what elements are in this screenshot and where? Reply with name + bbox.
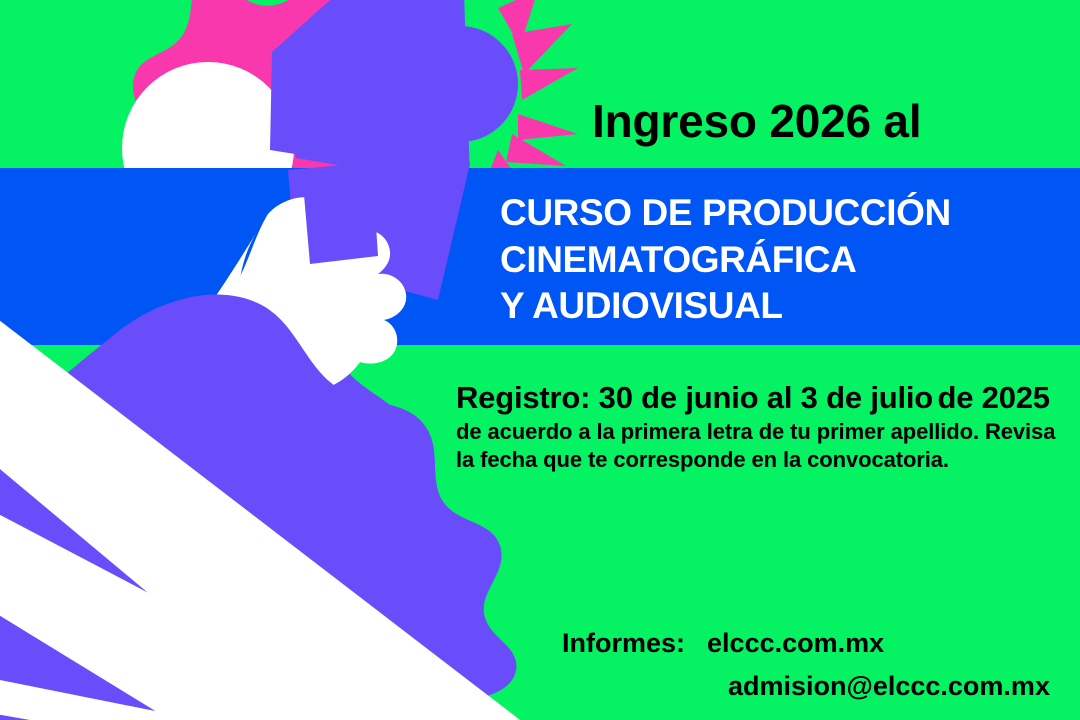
course-title-line-1: CURSO DE PRODUCCIÓN: [500, 190, 1070, 237]
registration-block: Registro: 30 de junio al 3 de julio de 2…: [456, 378, 1070, 474]
poster-canvas: Ingreso 2026 al CURSO DE PRODUCCIÓN CINE…: [0, 0, 1080, 720]
course-title: CURSO DE PRODUCCIÓN CINEMATOGRÁFICA Y AU…: [500, 190, 1070, 330]
contact-email-row: admision@elccc.com.mx: [562, 671, 1050, 702]
registration-dates: Registro: 30 de junio al 3 de julio: [456, 380, 933, 415]
contact-website[interactable]: elccc.com.mx: [707, 628, 884, 658]
course-title-line-3: Y AUDIOVISUAL: [500, 283, 1070, 330]
contact-website-row: Informes:elccc.com.mx: [562, 628, 1050, 659]
page-title: Ingreso 2026 al: [592, 94, 921, 148]
contact-label: Informes:: [562, 628, 685, 658]
registration-year: de 2025: [937, 380, 1049, 415]
handle-over-fist: [302, 164, 378, 264]
registration-detail: de acuerdo a la primera letra de tu prim…: [456, 419, 1055, 472]
course-title-line-2: CINEMATOGRÁFICA: [500, 237, 1070, 284]
contact-block: Informes:elccc.com.mx admision@elccc.com…: [562, 628, 1050, 702]
contact-email[interactable]: admision@elccc.com.mx: [728, 671, 1050, 701]
